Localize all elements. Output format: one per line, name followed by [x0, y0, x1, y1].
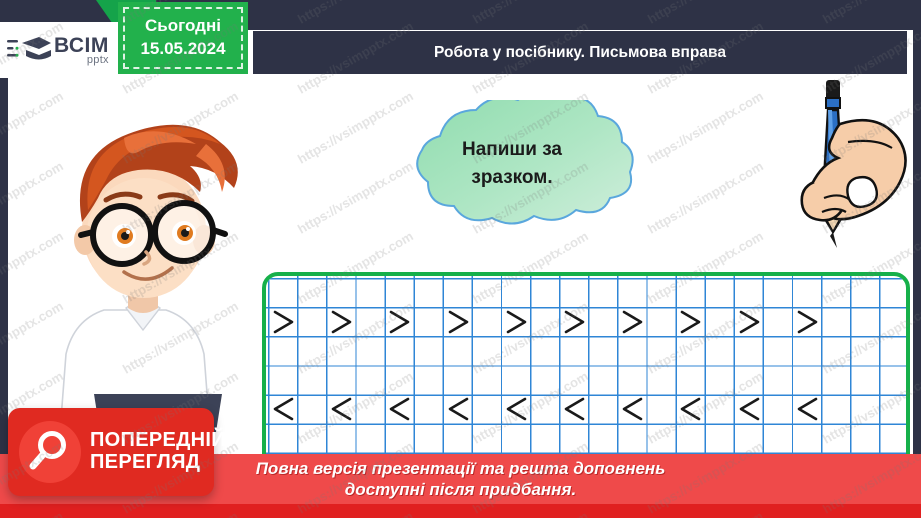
magnifier-icon	[19, 421, 81, 483]
worksheet-symbol-cell	[734, 307, 792, 336]
worksheet-symbol-cell	[675, 394, 733, 423]
symbol-<-icon	[620, 396, 646, 422]
symbol->-icon	[795, 309, 821, 335]
cartoon-boy-illustration	[28, 72, 258, 432]
symbol->-icon	[387, 309, 413, 335]
worksheet-grid	[262, 272, 910, 477]
worksheet-symbol-cell	[443, 307, 501, 336]
symbol-<-icon	[271, 396, 297, 422]
symbol->-icon	[504, 309, 530, 335]
symbol-<-icon	[329, 396, 355, 422]
worksheet-symbol-cell	[559, 394, 617, 423]
worksheet-symbol-cell	[617, 307, 675, 336]
worksheet-symbol-cell	[559, 307, 617, 336]
date-badge: Сьогодні 15.05.2024	[118, 2, 248, 74]
hand-with-pencil-illustration	[770, 62, 910, 262]
worksheet-symbol-cell	[675, 307, 733, 336]
preview-badge-line-1: ПОПЕРЕДНІЙ	[90, 429, 226, 451]
promo-line-1: Повна версія презентації та решта доповн…	[256, 458, 666, 479]
symbol-<-icon	[678, 396, 704, 422]
watermark-text: https://vsimpptx.com	[645, 0, 766, 27]
worksheet-symbol-cell	[617, 394, 675, 423]
cloud-callout: Напиши за зразком.	[378, 100, 646, 228]
symbol->-icon	[271, 309, 297, 335]
symbol->-icon	[678, 309, 704, 335]
symbol->-icon	[329, 309, 355, 335]
less-than-row	[268, 394, 910, 423]
worksheet-symbol-cell	[792, 307, 850, 336]
watermark-text: https://vsimpptx.com	[470, 0, 591, 27]
symbol->-icon	[620, 309, 646, 335]
preview-badge[interactable]: ПОПЕРЕДНІЙ ПЕРЕГЛЯД	[8, 408, 214, 496]
watermark-text: https://vsimpptx.com	[295, 0, 416, 27]
symbol->-icon	[446, 309, 472, 335]
slide-title-bar: Робота у посібнику. Письмова вправа	[253, 31, 907, 74]
graduation-cap-icon	[6, 33, 52, 67]
brand-logo: ВСІМ pptx	[0, 22, 130, 78]
date-badge-value: 15.05.2024	[140, 38, 225, 61]
date-badge-label: Сьогодні	[145, 15, 221, 38]
worksheet-symbol-cell	[501, 394, 559, 423]
watermark-text: https://vsimpptx.com	[820, 0, 921, 27]
symbol->-icon	[562, 309, 588, 335]
worksheet-symbol-cell	[326, 307, 384, 336]
greater-than-row	[268, 307, 910, 336]
worksheet-symbol-cell	[443, 394, 501, 423]
symbol-<-icon	[562, 396, 588, 422]
worksheet-symbol-cell	[501, 307, 559, 336]
promo-line-2: доступні після придбання.	[345, 479, 576, 500]
worksheet-symbol-cell	[268, 394, 326, 423]
symbol-<-icon	[737, 396, 763, 422]
cloud-line-2: зразком.	[471, 164, 552, 192]
symbol->-icon	[737, 309, 763, 335]
grid-lines	[266, 276, 906, 473]
page-title: Робота у посібнику. Письмова вправа	[434, 44, 726, 62]
slide-root: ВСІМ pptx Сьогодні 15.05.2024 Робота у п…	[0, 0, 921, 518]
symbol-<-icon	[387, 396, 413, 422]
worksheet-symbol-cell	[792, 394, 850, 423]
preview-badge-line-2: ПЕРЕГЛЯД	[90, 452, 226, 474]
worksheet-symbol-cell	[384, 394, 442, 423]
symbol-<-icon	[446, 396, 472, 422]
worksheet-symbol-cell	[268, 307, 326, 336]
worksheet-symbol-cell	[326, 394, 384, 423]
symbol-<-icon	[795, 396, 821, 422]
worksheet-symbol-cell	[384, 307, 442, 336]
symbol-<-icon	[504, 396, 530, 422]
cloud-line-1: Напиши за	[462, 136, 562, 164]
worksheet-symbol-cell	[734, 394, 792, 423]
